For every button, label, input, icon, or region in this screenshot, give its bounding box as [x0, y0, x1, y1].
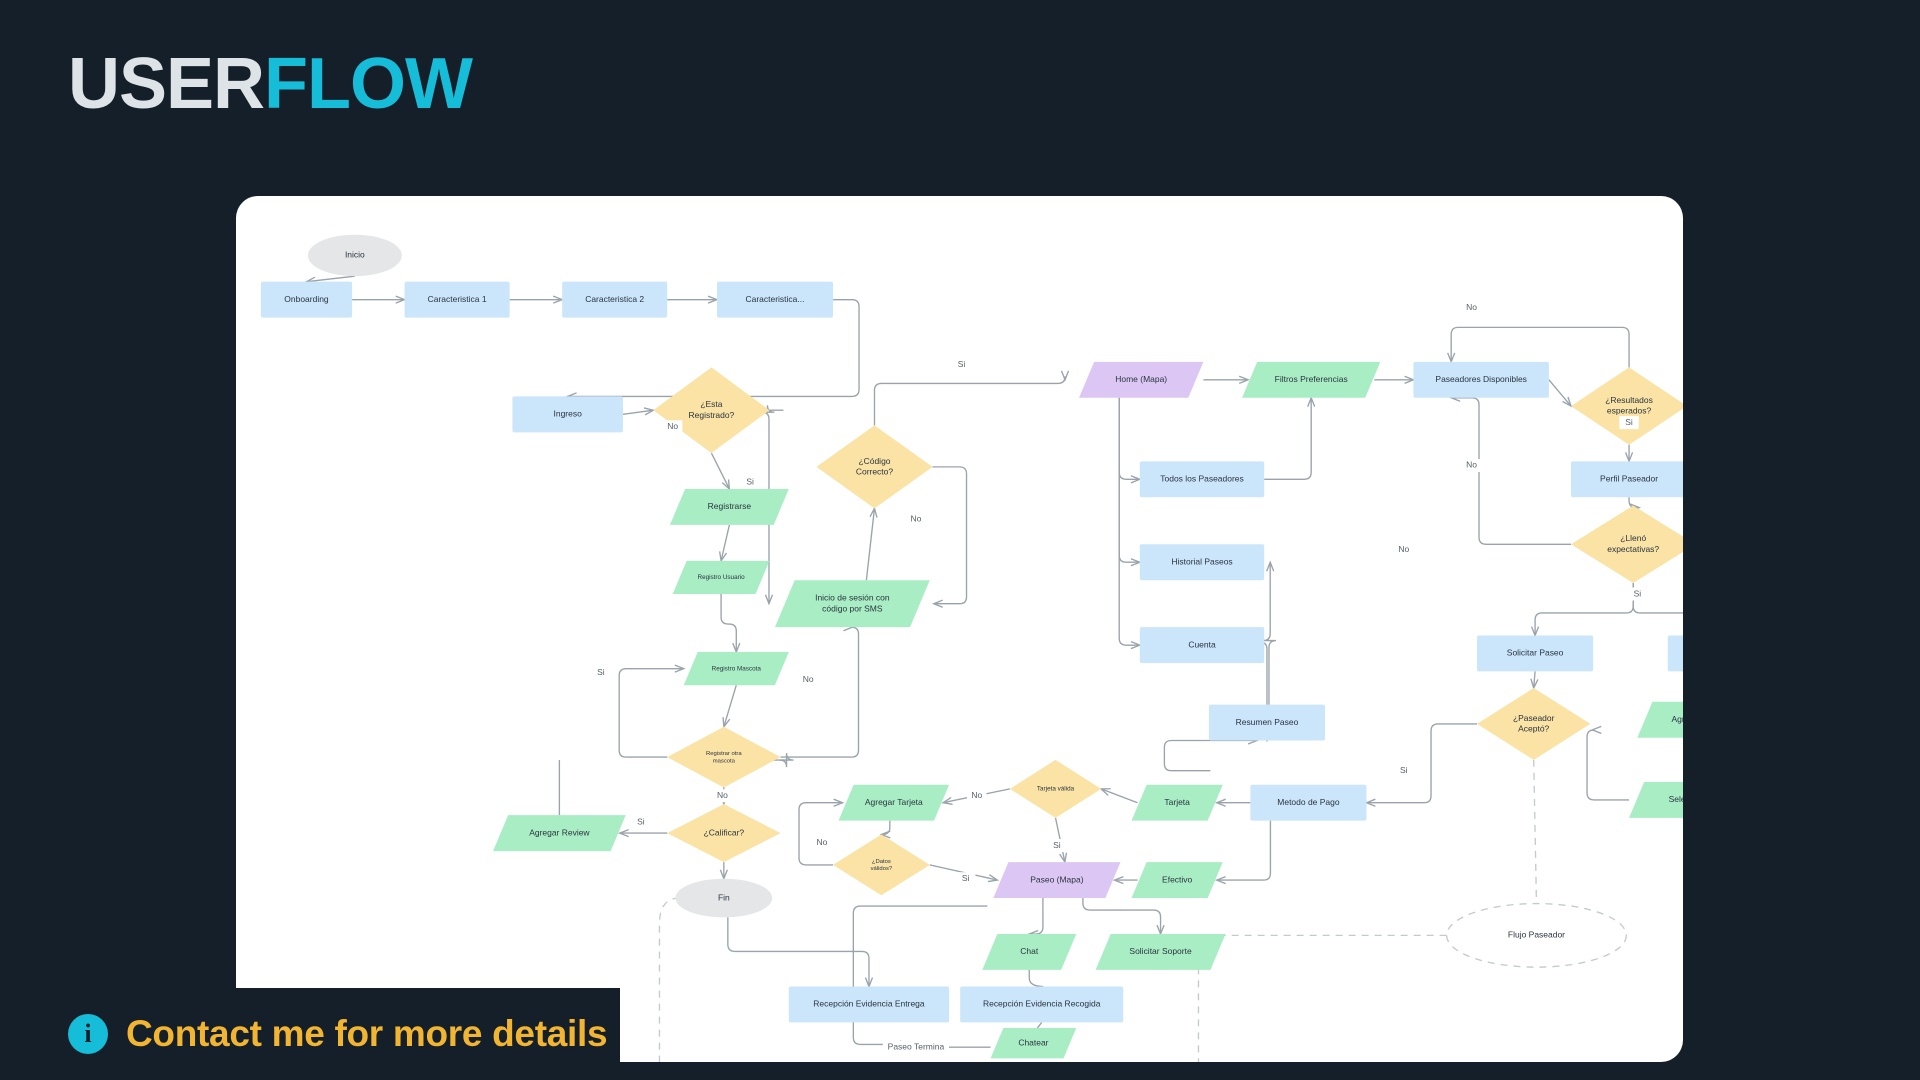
flow-node[interactable]: Agregar Review: [493, 815, 626, 851]
edge-label: Si: [1634, 588, 1642, 598]
flow-node-label: Registro Mascota: [712, 665, 762, 672]
flow-node[interactable]: Metodo de Pago: [1250, 785, 1366, 821]
flow-node-label: Chat: [1020, 946, 1039, 956]
flow-node-label: código por SMS: [822, 603, 883, 613]
flow-node[interactable]: Caracteristica 1: [405, 282, 510, 318]
flowchart-canvas[interactable]: InicioOnboardingCaracteristica 1Caracter…: [236, 196, 1683, 1062]
edge-label: Si: [1400, 765, 1408, 775]
flow-node-label: Registro Usuario: [698, 574, 746, 581]
flow-node[interactable]: Paseadores Disponibles: [1413, 362, 1548, 398]
flow-node[interactable]: ¿CódigoCorrecto?: [816, 425, 932, 508]
flow-node-label: ¿Código: [858, 456, 890, 466]
flow-edge: [724, 685, 736, 726]
flow-node-label: Seleccionar fecha: [1669, 794, 1683, 804]
flow-edge: [933, 467, 967, 604]
flow-node[interactable]: Registrar otramascota: [667, 727, 780, 788]
flow-node[interactable]: Registrarse: [670, 489, 789, 525]
edge-label: No: [717, 790, 728, 800]
flow-node-label: ¿Resultados: [1605, 395, 1653, 405]
flow-node[interactable]: ¿Datosválidos?: [833, 834, 930, 895]
flow-node[interactable]: Home (Mapa): [1079, 362, 1203, 398]
flow-node[interactable]: Tarjeta válida: [1010, 760, 1101, 818]
flow-node-label: Metodo de Pago: [1277, 797, 1340, 807]
flow-node[interactable]: Tarjeta: [1132, 785, 1223, 821]
flow-node[interactable]: Recepción Evidencia Recogida: [960, 987, 1123, 1023]
flow-edge: [1101, 789, 1137, 803]
flow-node-label: Registrar otra: [706, 751, 742, 757]
flow-node-label: Solicitar Paseo: [1507, 648, 1564, 658]
flow-node[interactable]: Todos los Paseadores: [1140, 461, 1264, 497]
flow-node[interactable]: Efectivo: [1132, 862, 1223, 898]
flow-edge: [1164, 741, 1257, 771]
header: USERFLOW: [68, 48, 472, 120]
flow-node[interactable]: ¿EstaRegistrado?: [653, 367, 769, 453]
flow-edge: [619, 669, 684, 757]
flow-node[interactable]: Solicitar Soporte: [1096, 934, 1226, 970]
flow-node[interactable]: Onboarding: [261, 282, 352, 318]
flow-edge: [1083, 898, 1161, 934]
contact-banner[interactable]: i Contact me for more details: [0, 988, 620, 1080]
flow-node-label: Historial Paseos: [1171, 556, 1232, 566]
flow-edge: [728, 917, 869, 986]
flow-node-label: Agregar Especifica...: [1671, 714, 1683, 724]
flow-edge: [1549, 380, 1571, 406]
edge-label: Si: [958, 359, 966, 369]
flow-node[interactable]: Filtros Preferencias: [1242, 362, 1380, 398]
flow-node[interactable]: Caracteristica...: [717, 282, 833, 318]
edge-label: No: [1466, 302, 1477, 312]
flow-node-label: Registrado?: [689, 410, 735, 420]
flow-node-label: Fin: [718, 892, 730, 902]
flow-node-label: Todos los Paseadores: [1160, 474, 1243, 484]
flow-node-label: Registrarse: [708, 501, 752, 511]
edge-label: No: [1466, 460, 1477, 470]
edge-label: Si: [637, 816, 645, 826]
flow-edge: [1587, 730, 1629, 800]
flow-node-label: Onboarding: [284, 294, 329, 304]
flow-edge: [1629, 497, 1639, 507]
flow-node-label: Home (Mapa): [1115, 374, 1167, 384]
flow-node-label: ¿Calificar?: [704, 827, 745, 837]
flow-node[interactable]: Chat: [982, 934, 1076, 970]
flow-edge: [1535, 583, 1633, 636]
flow-node[interactable]: Recepción Evidencia Entrega: [789, 987, 949, 1023]
node-layer: InicioOnboardingCaracteristica 1Caracter…: [261, 235, 1683, 1059]
flow-node[interactable]: Paseo (Mapa): [993, 862, 1120, 898]
edge-label: Paseo Termina: [888, 1042, 945, 1052]
flow-node-label: válidos?: [871, 866, 893, 872]
flow-edge: [659, 898, 679, 1062]
flow-node[interactable]: Agregar Especifica...: [1637, 702, 1683, 738]
flow-edge: [623, 410, 653, 414]
flow-node[interactable]: Flujo Paseador: [1447, 904, 1627, 968]
logo-accent-text: FLOW: [264, 44, 472, 124]
flow-node-label: ¿Datos: [872, 859, 891, 865]
flow-node-label: ¿Paseador: [1513, 713, 1555, 723]
flow-node-label: Solicitar Soporte: [1129, 946, 1192, 956]
flow-node[interactable]: Chatear: [991, 1028, 1077, 1058]
flow-node[interactable]: Perfil Paseador: [1571, 461, 1683, 497]
flow-node[interactable]: Caracteristica 2: [562, 282, 667, 318]
flow-node[interactable]: ¿Calificar?: [667, 804, 780, 862]
page-root: USERFLOW InicioOnboardingCaracteristica …: [0, 0, 1920, 1080]
flow-node-label: Caracteristica...: [746, 294, 805, 304]
flow-node[interactable]: Inicio de sesión concódigo por SMS: [775, 580, 930, 627]
edge-label: No: [817, 837, 828, 847]
flow-edge: [1029, 898, 1043, 934]
edge-label: No: [911, 514, 922, 524]
edge-label: No: [667, 421, 678, 431]
flow-node-label: Agregar Tarjeta: [865, 797, 923, 807]
flow-node-label: Resumen Paseo: [1236, 717, 1299, 727]
flow-node-label: Tarjeta válida: [1037, 786, 1075, 793]
flow-node[interactable]: Solicitar Paseo: [1477, 635, 1593, 671]
flow-node-label: ¿Esta: [700, 399, 722, 409]
flow-edge: [1119, 398, 1140, 480]
flow-node-label: Ingreso: [554, 409, 583, 419]
flow-edge: [799, 803, 843, 865]
flow-edge: [853, 906, 987, 1044]
flow-node-label: Efectivo: [1162, 874, 1192, 884]
flow-edge: [1264, 398, 1311, 480]
edge-label: Si: [1053, 840, 1061, 850]
flow-node-label: Caracteristica 1: [428, 294, 487, 304]
flow-node[interactable]: Agregar Tarjeta: [839, 785, 950, 821]
flow-edge: [881, 821, 889, 835]
flow-edge: [1037, 1022, 1041, 1028]
app-logo: USERFLOW: [68, 48, 472, 120]
flow-node[interactable]: Inicio: [308, 235, 402, 276]
flow-edge: [1217, 821, 1271, 880]
flowchart-svg: InicioOnboardingCaracteristica 1Caracter…: [236, 196, 1683, 1062]
decision-diamond: [667, 727, 780, 788]
flow-node[interactable]: Registro Usuario: [673, 561, 770, 594]
flow-node[interactable]: Registro Mascota: [684, 652, 789, 685]
flow-edge: [781, 627, 859, 757]
flow-node[interactable]: ¿Resultadosesperados?: [1571, 367, 1683, 444]
contact-banner-text: Contact me for more details: [126, 1013, 607, 1055]
edge-label: Si: [597, 667, 605, 677]
flow-edge: [711, 453, 729, 489]
flow-node-label: Inicio: [345, 250, 365, 260]
flow-edge: [1366, 724, 1477, 803]
flow-node-label: Chatear: [1018, 1037, 1048, 1047]
flow-edge: [1534, 671, 1535, 688]
flow-node-label: mascota: [713, 758, 736, 764]
flow-node[interactable]: Seleccionar fecha: [1629, 782, 1683, 818]
decision-diamond: [833, 834, 930, 895]
flow-edge: [1029, 970, 1043, 987]
edge-label: No: [803, 674, 814, 684]
flow-node[interactable]: Ingreso: [512, 396, 623, 432]
flow-node-label: Cuenta: [1188, 639, 1216, 649]
flow-node-label: Filtros Preferencias: [1275, 374, 1348, 384]
process-box: [1668, 635, 1683, 671]
flow-edge: [306, 276, 354, 282]
flow-edge: [1263, 562, 1276, 704]
flow-edge: [721, 594, 736, 652]
flow-node[interactable]: Cuenta: [1140, 627, 1264, 663]
info-icon: i: [68, 1014, 108, 1054]
flow-node[interactable]: Resumen Paseo: [1209, 705, 1325, 741]
flow-node-label: esperados?: [1607, 406, 1652, 416]
flow-node[interactable]: ¿Llenóexpectativas?: [1571, 506, 1683, 583]
flow-edge: [1119, 398, 1140, 645]
flow-edge: [1451, 327, 1629, 367]
flow-node-label: Agregar Review: [529, 827, 590, 837]
flow-node-label: expectativas?: [1607, 544, 1659, 554]
flow-node-label: Correcto?: [856, 466, 894, 476]
flow-node[interactable]: Historial Paseos: [1140, 544, 1264, 580]
flow-node-label: Perfil Paseador: [1600, 474, 1658, 484]
edge-label: No: [971, 790, 982, 800]
flow-edge: [866, 508, 874, 580]
flow-node-label: Paseo (Mapa): [1030, 874, 1083, 884]
edge-label: Si: [1625, 417, 1633, 427]
flow-edge: [1534, 760, 1537, 904]
edge-label: No: [1398, 544, 1409, 554]
flow-node-label: ¿Llenó: [1620, 533, 1646, 543]
edge-label: Si: [962, 873, 970, 883]
flow-edge: [1119, 398, 1140, 562]
flow-edge: [780, 753, 794, 767]
flow-edge: [874, 376, 1065, 425]
logo-primary-text: USER: [68, 44, 264, 124]
flow-node-label: Tarjeta: [1164, 797, 1190, 807]
flow-edge: [721, 525, 729, 561]
flow-node[interactable]: Agendar Paseo: [1668, 635, 1683, 671]
flow-node-label: Recepción Evidencia Recogida: [983, 999, 1101, 1009]
flow-node-label: Caracteristica 2: [585, 294, 644, 304]
flow-node-label: Flujo Paseador: [1508, 930, 1565, 940]
flow-node-label: Recepción Evidencia Entrega: [813, 999, 925, 1009]
flow-node-label: Aceptó?: [1518, 723, 1549, 733]
flow-node[interactable]: ¿PaseadorAceptó?: [1477, 688, 1590, 760]
edge-label: Si: [746, 476, 754, 486]
flow-node-label: Paseadores Disponibles: [1435, 374, 1527, 384]
flow-node[interactable]: Fin: [675, 879, 772, 918]
flow-node-label: Inicio de sesión con: [815, 593, 890, 603]
